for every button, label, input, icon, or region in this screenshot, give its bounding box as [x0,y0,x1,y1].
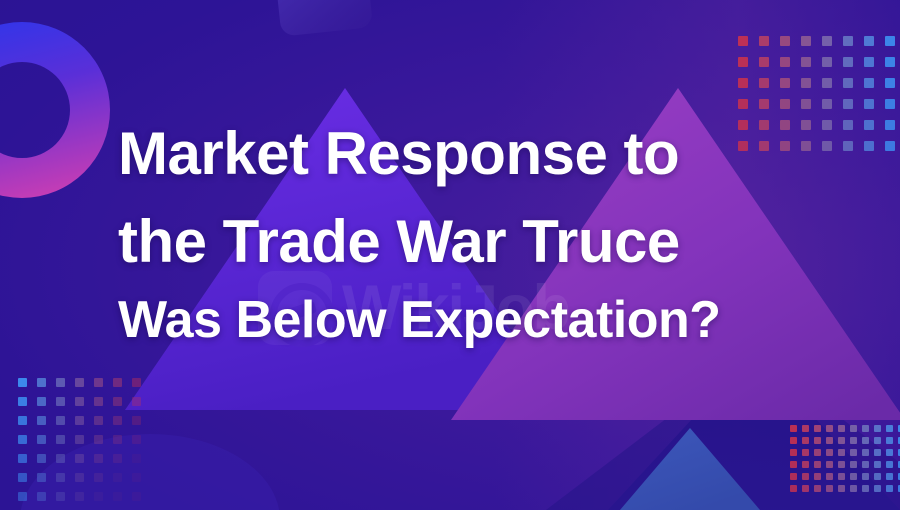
rounded-card-sliver [275,0,373,37]
soft-blob [20,434,280,510]
headline-line-3: Was Below Expectation? [118,288,818,352]
headline-line-2: the Trade War Truce [118,206,818,278]
headline-line-1: Market Response to [118,118,818,190]
headline-block: Market Response to the Trade War Truce W… [118,118,818,352]
gradient-ring [0,20,120,210]
promo-banner: WikiJob Market Response to the Trade War… [0,0,900,510]
